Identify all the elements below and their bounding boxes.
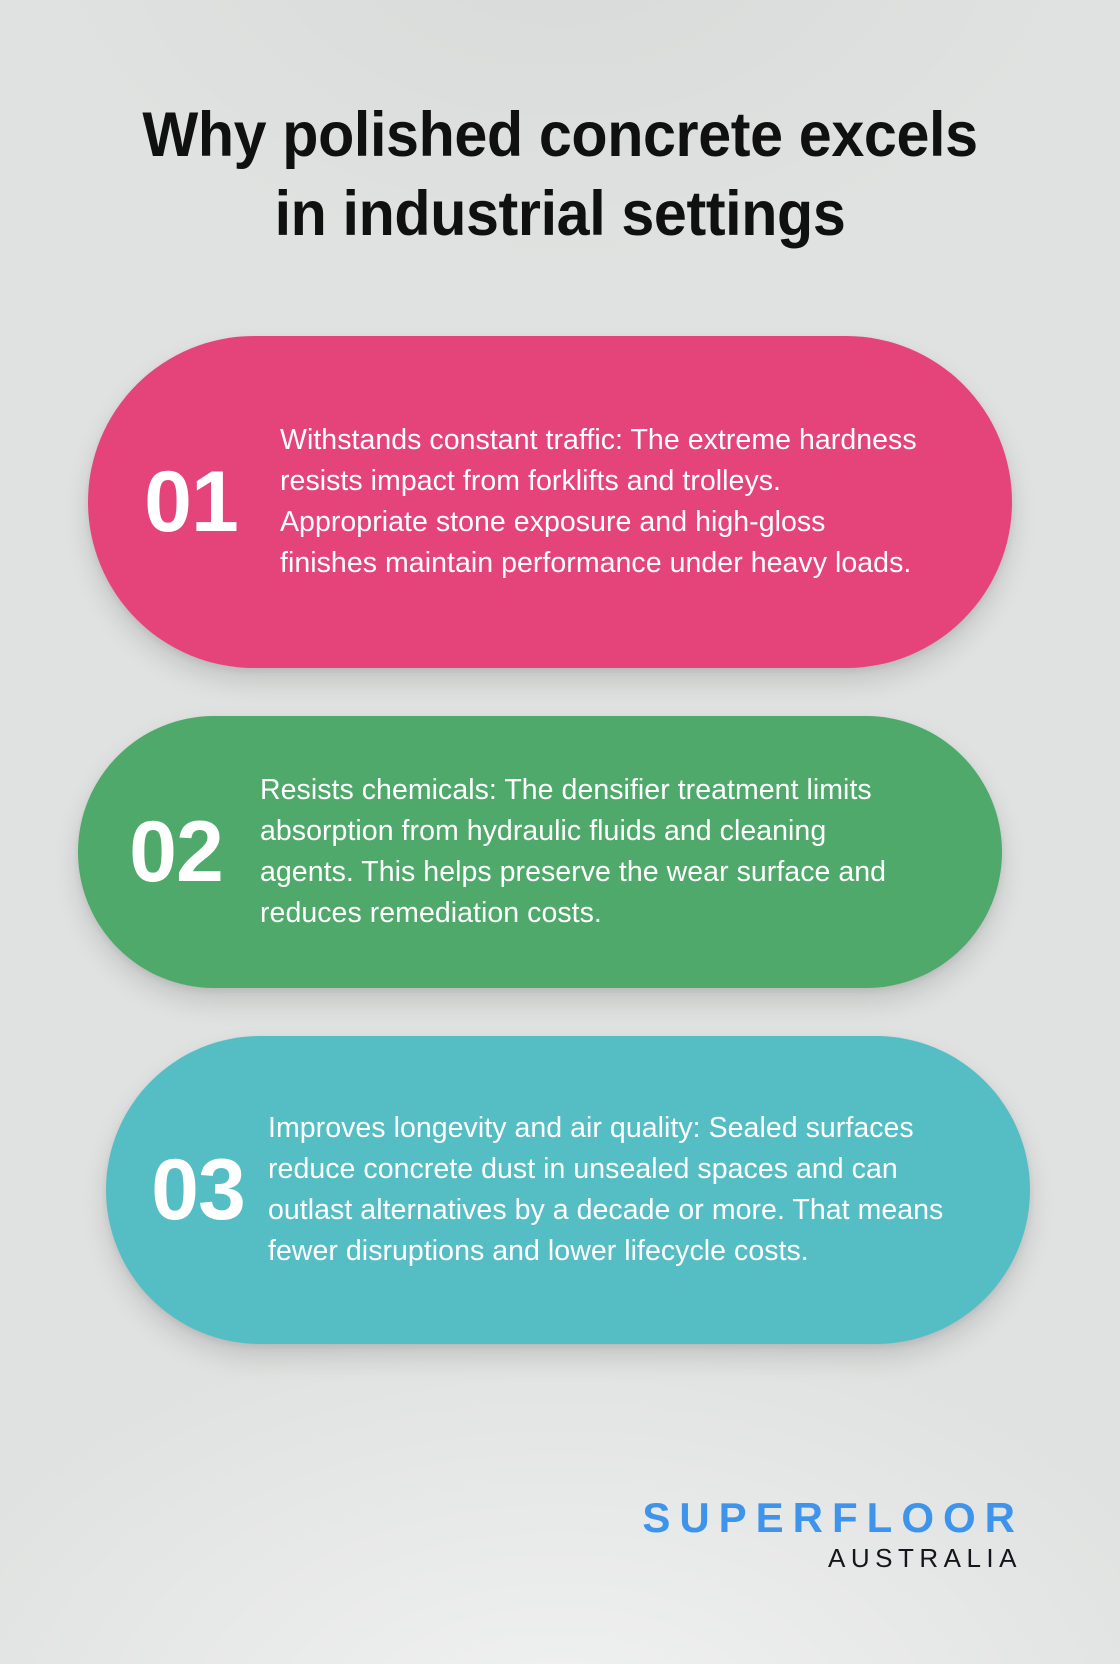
- card-number-badge: 03: [106, 1147, 268, 1233]
- card-body-text: Withstands constant traffic: The extreme…: [280, 420, 1012, 584]
- brand-logo: SUPERFLOOR AUSTRALIA: [642, 1496, 1024, 1574]
- card-body-text: Resists chemicals: The densifier treatme…: [260, 770, 1002, 934]
- brand-logo-region: AUSTRALIA: [642, 1543, 1024, 1574]
- card-body-text: Improves longevity and air quality: Seal…: [268, 1108, 1030, 1272]
- card-list: 01 Withstands constant traffic: The extr…: [0, 336, 1120, 1392]
- page-title: Why polished concrete excels in industri…: [0, 96, 1120, 255]
- page-title-line-2: in industrial settings: [275, 179, 846, 249]
- list-item: 01 Withstands constant traffic: The extr…: [88, 336, 1012, 668]
- infographic-poster: Why polished concrete excels in industri…: [0, 0, 1120, 1664]
- card-number-badge: 02: [78, 809, 260, 895]
- card-number-badge: 01: [88, 459, 280, 545]
- page-title-line-1: Why polished concrete excels: [142, 100, 977, 170]
- list-item: 02 Resists chemicals: The densifier trea…: [78, 716, 1002, 988]
- brand-logo-name: SUPERFLOOR: [642, 1496, 1024, 1540]
- list-item: 03 Improves longevity and air quality: S…: [106, 1036, 1030, 1344]
